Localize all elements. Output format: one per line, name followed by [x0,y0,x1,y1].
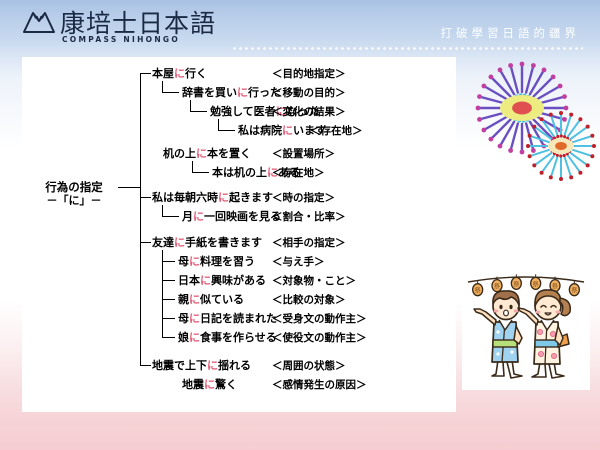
sentence-prefix: 日本 [178,274,200,287]
svg-text:祭: 祭 [494,283,500,291]
diagram-row: 友達に手紙を書きます [152,234,262,250]
connector-branch-7 [140,197,151,198]
connector-child-r11 [162,280,175,281]
connector-branch-9 [140,242,151,243]
diagram-row: 日本に興味がある [178,272,266,288]
sentence-text: 私は毎朝六時に起きます [152,189,273,205]
diagram-row: 母に料理を習う [178,253,255,269]
sentence-suffix: 起きます [229,191,273,204]
connector-child-r10 [162,261,175,262]
sentence-prefix: 友達 [152,236,174,249]
particle-ni: に [189,312,200,325]
sentence-prefix: 辞書を買い [182,86,237,99]
connector-branch-1 [140,73,151,74]
slide-canvas: 康培士日本語 COMPASS NIHONGO 打破學習日語的疆界 行為の指定 －… [0,0,600,450]
sentence-suffix: 一回映画を見る [204,210,281,223]
particle-ni: に [193,210,204,223]
sentence-suffix: 料理を習う [200,255,255,268]
header-tagline: 打破學習日語的疆界 [441,25,581,41]
sentence-prefix: 母 [178,312,189,325]
svg-text:祭: 祭 [533,280,539,288]
brand-logo: 康培士日本語 COMPASS NIHONGO [22,6,216,36]
connector-child-r12 [162,299,175,300]
particle-ni-tree-diagram: 行為の指定 －「に」－ [22,57,456,412]
diagram-row: 月に一回映画を見る [182,208,281,224]
diagram-row: 地震に驚く [182,376,237,392]
usage-tag: ＜感情発生の原因＞ [272,376,367,392]
usage-tag: ＜移動の目的＞ [272,84,346,100]
usage-tag: ＜存在地＞ [272,164,325,180]
sentence-text: 親に似ている [178,291,244,307]
diagram-row: 本屋に行く [152,65,207,81]
sentence-text: 友達に手紙を書きます [152,234,262,250]
particle-ni: に [174,236,185,249]
sentence-prefix: 机の上 [163,147,196,160]
sentence-prefix: 私は毎朝六時 [152,191,218,204]
sentence-text: 机の上に本を置く [163,145,251,161]
brand-name-cjk: 康培士日本語 [60,11,216,36]
brand-name-latin: COMPASS NIHONGO [62,36,180,44]
sentence-text: 地震に驚く [182,376,237,392]
sentence-prefix: 月 [182,210,193,223]
firework-burst-icon [518,108,600,188]
particle-ni: に [189,331,200,344]
connector-elbow-r4-h [218,130,235,131]
svg-text:祭: 祭 [552,283,558,291]
sentence-text: 辞書を買いに行った [182,84,281,100]
sentence-prefix: 母 [178,255,189,268]
sentence-text: 日本に興味がある [178,272,266,288]
usage-tag: ＜変化の結果＞ [272,103,346,119]
usage-tag: ＜時の指定＞ [272,189,335,205]
svg-text:祭: 祭 [571,287,577,295]
festival-children-illustration: 祭祭祭祭祭祭 [462,268,590,394]
usage-tag: ＜使役文の動作主＞ [272,329,367,345]
mountain-icon [22,6,56,36]
usage-tag: ＜比較の対象＞ [272,291,346,307]
particle-ni: に [200,274,211,287]
connector-subtrunk-r9 [162,250,163,338]
sentence-prefix: 親 [178,293,189,306]
sentence-suffix: 行く [185,67,207,80]
usage-tag: ＜相手の指定＞ [272,234,346,250]
connector-elbow-r6-h [192,172,209,173]
connector-elbow-r8-h [162,216,179,217]
diagram-row: 地震で上下に揺れる [152,357,251,373]
usage-tag: ＜対象物・こと＞ [272,272,356,288]
usage-tag: ＜設置場所＞ [272,145,335,161]
sentence-suffix: 食事を作らせる [200,331,277,344]
sentence-suffix: 手紙を書きます [185,236,262,249]
particle-ni: に [189,255,200,268]
diagram-row: 母に日記を読まれた [178,310,277,326]
connector-elbow-r2-h [162,92,179,93]
root-subtitle: －「に」－ [30,194,118,208]
slide-header: 康培士日本語 COMPASS NIHONGO 打破學習日語的疆界 [0,0,600,56]
diagram-row: 机の上に本を置く [163,145,251,161]
svg-text:祭: 祭 [475,287,481,295]
svg-text:祭: 祭 [513,280,519,288]
root-title: 行為の指定 [45,180,103,194]
usage-tag: ＜周囲の状態＞ [272,357,346,373]
particle-ni: に [207,359,218,372]
sentence-text: 母に日記を読まれた [178,310,277,326]
connector-main-trunk [140,73,141,366]
usage-tag: ＜目的地指定＞ [272,65,346,81]
sentence-prefix: 娘 [178,331,189,344]
sentence-prefix: 本は机の上 [212,166,267,179]
usage-tag: ＜受身文の動作主＞ [272,310,367,326]
connector-child-r13 [162,318,175,319]
particle-ni: に [282,124,293,137]
connector-branch-15 [140,365,151,366]
dotted-divider [233,47,583,50]
sentence-prefix: 勉強して医者 [210,105,276,118]
sentence-text: 月に一回映画を見る [182,208,281,224]
sentence-suffix: 本を置く [207,147,251,160]
sentence-text: 地震で上下に揺れる [152,357,251,373]
sentence-suffix: 興味がある [211,274,266,287]
particle-ni: に [204,378,215,391]
content-panel: 行為の指定 －「に」－ [22,57,456,412]
connector-child-r14 [162,337,175,338]
sentence-text: 母に料理を習う [178,253,255,269]
particle-ni: に [196,147,207,160]
usage-tag: ＜与え手＞ [272,253,325,269]
usage-tag: ＜割合・比率＞ [272,208,346,224]
sentence-text: 娘に食事を作らせる [178,329,277,345]
diagram-row: 私は毎朝六時に起きます [152,189,273,205]
sentence-prefix: 地震で上下 [152,359,207,372]
diagram-row: 辞書を買いに行った [182,84,281,100]
sentence-suffix: 似ている [200,293,244,306]
diagram-root-label: 行為の指定 －「に」－ [30,180,118,208]
sentence-suffix: 揺れる [218,359,251,372]
sentence-suffix: 日記を読まれた [200,312,277,325]
sentence-suffix: 驚く [215,378,237,391]
sentence-text: 本屋に行く [152,65,207,81]
brand-wordmark: 康培士日本語 COMPASS NIHONGO [60,11,216,36]
particle-ni: に [189,293,200,306]
connector-root-stub [118,187,140,188]
particle-ni: に [218,191,229,204]
sentence-prefix: 本屋 [152,67,174,80]
connector-elbow-r3-h [190,111,207,112]
usage-tag: ＜存在地＞ [310,122,363,138]
diagram-row: 親に似ている [178,291,244,307]
sentence-prefix: 地震 [182,378,204,391]
particle-ni: に [174,67,185,80]
sentence-prefix: 私は病院 [238,124,282,137]
particle-ni: に [237,86,248,99]
diagram-row: 娘に食事を作らせる [178,329,277,345]
